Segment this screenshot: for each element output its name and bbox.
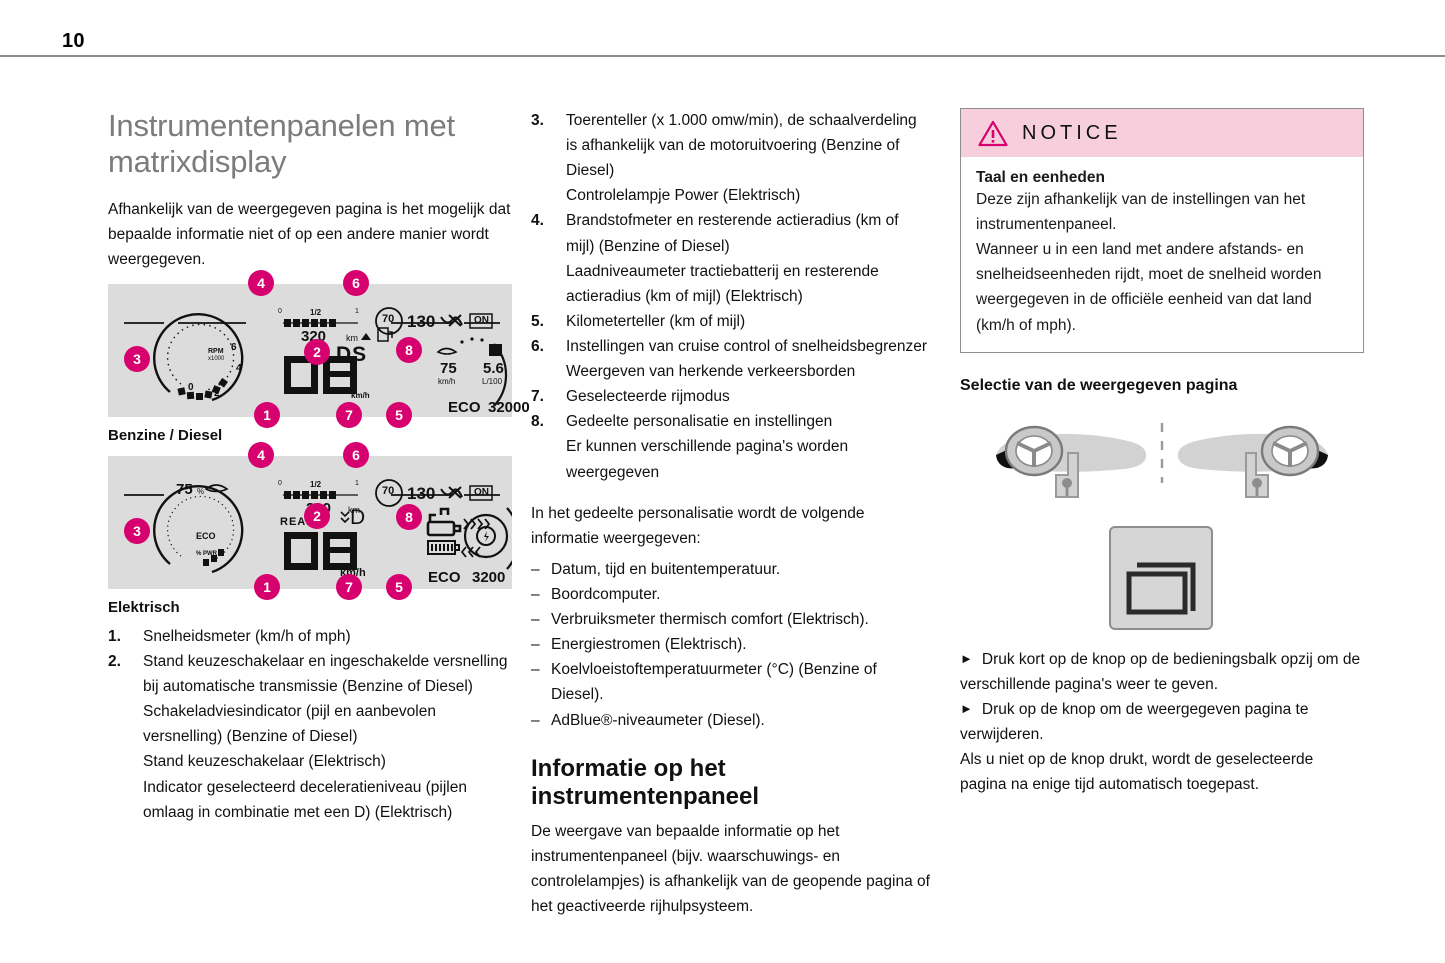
list-text: Druk op de knop om de weergegeven pagina… bbox=[960, 701, 1308, 743]
list-text: Toerenteller (x 1.000 omw/min), de schaa… bbox=[566, 108, 931, 183]
list-text: Boordcomputer. bbox=[551, 586, 660, 603]
callout-badge-4: 4 bbox=[248, 270, 274, 296]
personalisation-list: Datum, tijd en buitentemperatuur. Boordc… bbox=[531, 557, 931, 733]
list-text: Laadniveaumeter tractiebatterij en reste… bbox=[566, 259, 931, 309]
list-number: 7. bbox=[531, 384, 557, 409]
callout-badge-7: 7 bbox=[336, 402, 362, 428]
intro-paragraph: Afhankelijk van de weergegeven pagina is… bbox=[108, 197, 516, 272]
list-item: 3. Toerenteller (x 1.000 omw/min), de sc… bbox=[531, 108, 931, 208]
callout-badge-3: 3 bbox=[124, 346, 150, 372]
ev-cruise-on-label: ON bbox=[474, 487, 489, 498]
consumption-unit: L/100 bbox=[482, 377, 502, 386]
cruise-limit-value: 70 bbox=[382, 313, 394, 325]
ev-cruise-limit-value: 70 bbox=[382, 485, 394, 497]
ev-callout-badge-7: 7 bbox=[336, 574, 362, 600]
list-text: Kilometerteller (km of mijl) bbox=[566, 309, 931, 334]
list-number: 3. bbox=[531, 108, 557, 133]
fuel-scale-mid: 1/2 bbox=[310, 308, 321, 317]
caption-fuel: Benzine / Diesel bbox=[108, 427, 516, 444]
list-item: 4. Brandstofmeter en resterende actierad… bbox=[531, 208, 931, 308]
power-low-label: % PWR bbox=[196, 551, 217, 557]
notice-body: Taal en eenheden Deze zijn afhankelijk v… bbox=[961, 157, 1363, 352]
list-item: 5. Kilometerteller (km of mijl) bbox=[531, 309, 931, 334]
ev-callout-badge-3: 3 bbox=[124, 518, 150, 544]
fuel-scale-min: 0 bbox=[278, 308, 282, 315]
cruise-on-label: ON bbox=[474, 315, 489, 326]
left-column: Instrumentenpanelen met matrixdisplay Af… bbox=[108, 108, 516, 825]
header-divider bbox=[0, 55, 1445, 57]
consumption-value: 5.6 bbox=[483, 360, 504, 377]
speed-unit: km/h bbox=[351, 391, 370, 400]
dashboard-right bbox=[1178, 427, 1328, 497]
list-text: Stand keuzeschakelaar (Elektrisch) bbox=[143, 749, 516, 774]
list-item: 7. Geselecteerde rijmodus bbox=[531, 384, 931, 409]
manual-page: 10 Instrumentenpanelen met matrixdisplay… bbox=[0, 0, 1445, 963]
callout-badge-1: 1 bbox=[254, 402, 280, 428]
fuel-scale-max: 1 bbox=[355, 308, 359, 315]
list-text: Gedeelte personalisatie en instellingen bbox=[566, 409, 931, 434]
right-column: NOTICE Taal en eenheden Deze zijn afhank… bbox=[960, 108, 1364, 803]
dashboard-left bbox=[996, 427, 1146, 497]
list-item: ►Druk kort op de knop op de bedieningsba… bbox=[960, 647, 1364, 697]
list-text: Controlelampje Power (Elektrisch) bbox=[566, 183, 931, 208]
ev-odometer-value: 3200 bbox=[472, 569, 505, 586]
list-number: 4. bbox=[531, 208, 557, 233]
list-number: 1. bbox=[108, 624, 134, 649]
cruise-set-value: 130 bbox=[407, 312, 435, 332]
list-number: 2. bbox=[108, 649, 134, 674]
arrow-right-icon: ► bbox=[960, 701, 973, 716]
avg-speed-unit: km/h bbox=[438, 377, 455, 386]
list-text: Datum, tijd en buitentemperatuur. bbox=[551, 561, 780, 578]
notice-title: Taal en eenheden bbox=[976, 169, 1348, 187]
list-text: Geselecteerde rijmodus bbox=[566, 384, 931, 409]
figure-cluster-fuel: 0 1/2 1 320 km RPM x1000 0 2 4 6 DS km/h… bbox=[108, 284, 512, 417]
rpm-tick-4: 4 bbox=[236, 363, 242, 374]
ev-callout-badge-6: 6 bbox=[343, 442, 369, 468]
list-item: Energiestromen (Elektrisch). bbox=[531, 632, 931, 657]
callout-badge-6: 6 bbox=[343, 270, 369, 296]
list-text: Indicator geselecteerd deceleratieniveau… bbox=[143, 775, 516, 825]
odometer-value: 32000 bbox=[488, 399, 530, 416]
callout-badge-5: 5 bbox=[386, 402, 412, 428]
list-item: 2. Stand keuzeschakelaar en ingeschakeld… bbox=[108, 649, 516, 825]
list-number: 8. bbox=[531, 409, 557, 434]
ev-callout-badge-8: 8 bbox=[396, 504, 422, 530]
list-text: Brandstofmeter en resterende actieradius… bbox=[566, 208, 931, 258]
page-header: 10 bbox=[0, 0, 1445, 56]
ev-gear-indicator: D bbox=[350, 506, 365, 530]
list-item: ►Druk op de knop om de weergegeven pagin… bbox=[960, 697, 1364, 747]
ev-callout-badge-4: 4 bbox=[248, 442, 274, 468]
section-heading-selection: Selectie van de weergegeven pagina bbox=[960, 377, 1364, 395]
ev-callout-badge-2: 2 bbox=[304, 503, 330, 529]
notice-header: NOTICE bbox=[961, 109, 1363, 157]
list-item: AdBlue®-niveaumeter (Diesel). bbox=[531, 708, 931, 733]
callout-badge-2: 2 bbox=[304, 339, 330, 365]
callout-badge-8: 8 bbox=[396, 337, 422, 363]
closing-paragraph: Als u niet op de knop drukt, wordt de ge… bbox=[960, 747, 1364, 797]
list-item: Koelvloeistoftemperatuurmeter (°C) (Benz… bbox=[531, 657, 931, 707]
list-text: Verbruiksmeter thermisch comfort (Elektr… bbox=[551, 611, 869, 628]
instruction-arrow-list: ►Druk kort op de knop op de bedieningsba… bbox=[960, 647, 1364, 747]
list-item: Boordcomputer. bbox=[531, 582, 931, 607]
list-number: 5. bbox=[531, 309, 557, 334]
avg-speed-value: 75 bbox=[440, 360, 457, 377]
list-text: Snelheidsmeter (km/h of mph) bbox=[143, 624, 516, 649]
list-text: Stand keuzeschakelaar en ingeschakelde v… bbox=[143, 649, 516, 699]
gear-indicator: DS bbox=[336, 343, 367, 367]
list-text: Instellingen van cruise control of snelh… bbox=[566, 334, 931, 359]
drive-mode-label: ECO bbox=[448, 399, 481, 416]
list-item: 6. Instellingen van cruise control of sn… bbox=[531, 334, 931, 384]
charge-scale-mid: 1/2 bbox=[310, 480, 321, 489]
ev-callout-badge-1: 1 bbox=[254, 574, 280, 600]
parts-list-middle: 3. Toerenteller (x 1.000 omw/min), de sc… bbox=[531, 108, 931, 485]
arrow-right-icon: ► bbox=[960, 651, 973, 666]
middle-column: 3. Toerenteller (x 1.000 omw/min), de sc… bbox=[531, 108, 931, 925]
list-item: 1. Snelheidsmeter (km/h of mph) bbox=[108, 624, 516, 649]
list-text: Er kunnen verschillende pagina's worden … bbox=[566, 434, 931, 484]
page-number: 10 bbox=[62, 30, 85, 53]
rpm-tick-0: 0 bbox=[188, 382, 194, 393]
list-number: 6. bbox=[531, 334, 557, 359]
list-text: Energiestromen (Elektrisch). bbox=[551, 636, 747, 653]
charge-percent-value: 75 bbox=[176, 481, 193, 498]
notice-paragraph: Deze zijn afhankelijk van de instellinge… bbox=[976, 187, 1348, 237]
caption-electric: Elektrisch bbox=[108, 599, 516, 616]
ev-cruise-set-value: 130 bbox=[407, 484, 435, 504]
list-item: Datum, tijd en buitentemperatuur. bbox=[531, 557, 931, 582]
notice-label: NOTICE bbox=[1022, 122, 1122, 145]
figure-cluster-electric: 75 % 0 1/2 1 200 km ECO % PWR READY D km… bbox=[108, 456, 512, 589]
page-title: Instrumentenpanelen met matrixdisplay bbox=[108, 108, 516, 181]
list-item: 8. Gedeelte personalisatie en instelling… bbox=[531, 409, 931, 484]
figure-steering-positions bbox=[960, 411, 1364, 521]
ev-drive-mode-label: ECO bbox=[428, 569, 461, 586]
list-text: Koelvloeistoftemperatuurmeter (°C) (Benz… bbox=[551, 661, 877, 703]
warning-triangle-icon bbox=[978, 120, 1008, 147]
personalisation-intro: In het gedeelte personalisatie wordt de … bbox=[531, 501, 931, 551]
charge-percent-unit: % bbox=[197, 487, 204, 496]
rpm-tick-2: 2 bbox=[214, 388, 220, 399]
list-text: AdBlue®-niveaumeter (Diesel). bbox=[551, 712, 765, 729]
rpm-label: RPM bbox=[208, 348, 224, 355]
section-heading-info: Informatie op het instrumentenpaneel bbox=[531, 755, 931, 811]
rpm-tick-6: 6 bbox=[231, 342, 237, 353]
rpm-multiplier: x1000 bbox=[208, 356, 224, 362]
list-item: Verbruiksmeter thermisch comfort (Elektr… bbox=[531, 607, 931, 632]
list-text: Schakeladviesindicator (pijl en aanbevol… bbox=[143, 699, 516, 749]
ev-callout-badge-5: 5 bbox=[386, 574, 412, 600]
notice-paragraph: Wanneer u in een land met andere afstand… bbox=[976, 237, 1348, 337]
notice-box: NOTICE Taal en eenheden Deze zijn afhank… bbox=[960, 108, 1364, 353]
charge-scale-min: 0 bbox=[278, 480, 282, 487]
fuel-range-unit: km bbox=[346, 333, 358, 343]
power-eco-label: ECO bbox=[196, 531, 216, 541]
list-text: Druk kort op de knop op de bedieningsbal… bbox=[960, 651, 1360, 693]
list-text: Weergeven van herkende verkeersborden bbox=[566, 359, 931, 384]
figure-page-button bbox=[960, 525, 1364, 635]
parts-list-left: 1. Snelheidsmeter (km/h of mph) 2. Stand… bbox=[108, 624, 516, 825]
charge-scale-max: 1 bbox=[355, 480, 359, 487]
info-paragraph: De weergave van bepaalde informatie op h… bbox=[531, 819, 931, 919]
